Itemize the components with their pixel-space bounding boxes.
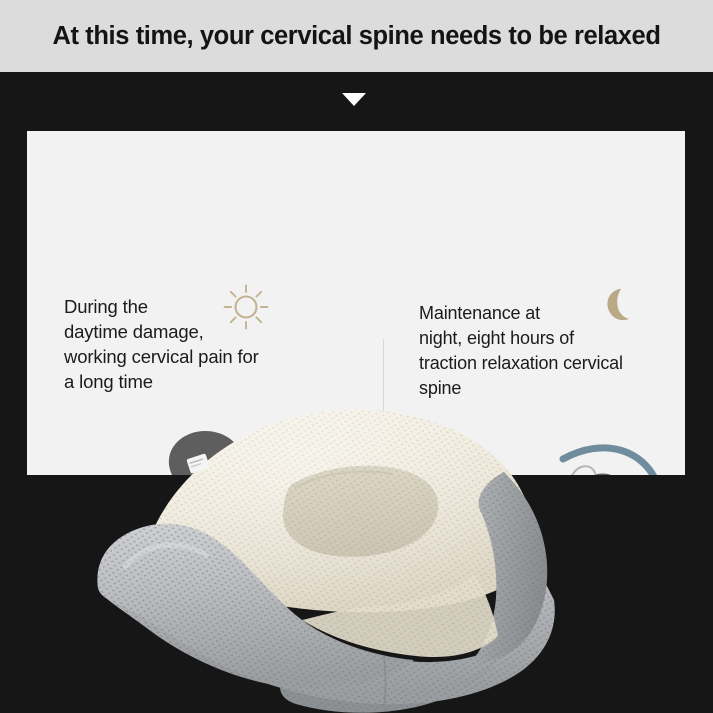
moon-icon (593, 286, 637, 330)
promo-stage: At this time, your cervical spine needs … (0, 0, 713, 713)
sun-icon (220, 281, 272, 333)
left-line-1: During the (64, 294, 354, 319)
right-line-4: spine (419, 376, 685, 401)
info-card: During the daytime damage, working cervi… (27, 131, 685, 475)
reclined-head-on-pillow-illustration (435, 439, 685, 475)
header-bar: At this time, your cervical spine needs … (0, 0, 713, 72)
left-line-2: daytime damage, (64, 319, 354, 344)
right-line-1: Maintenance at (419, 301, 685, 326)
right-line-3: traction relaxation cervical (419, 351, 685, 376)
triangle-down-icon (342, 93, 366, 106)
left-text-block: During the daytime damage, working cervi… (64, 294, 354, 394)
left-line-3: working cervical pain for (64, 344, 354, 369)
forward-head-posture-illustration (147, 427, 387, 475)
right-text-block: Maintenance at night, eight hours of tra… (419, 301, 685, 401)
left-line-4: a long time (64, 369, 354, 394)
page-title: At this time, your cervical spine needs … (52, 22, 660, 51)
right-line-2: night, eight hours of (419, 326, 685, 351)
